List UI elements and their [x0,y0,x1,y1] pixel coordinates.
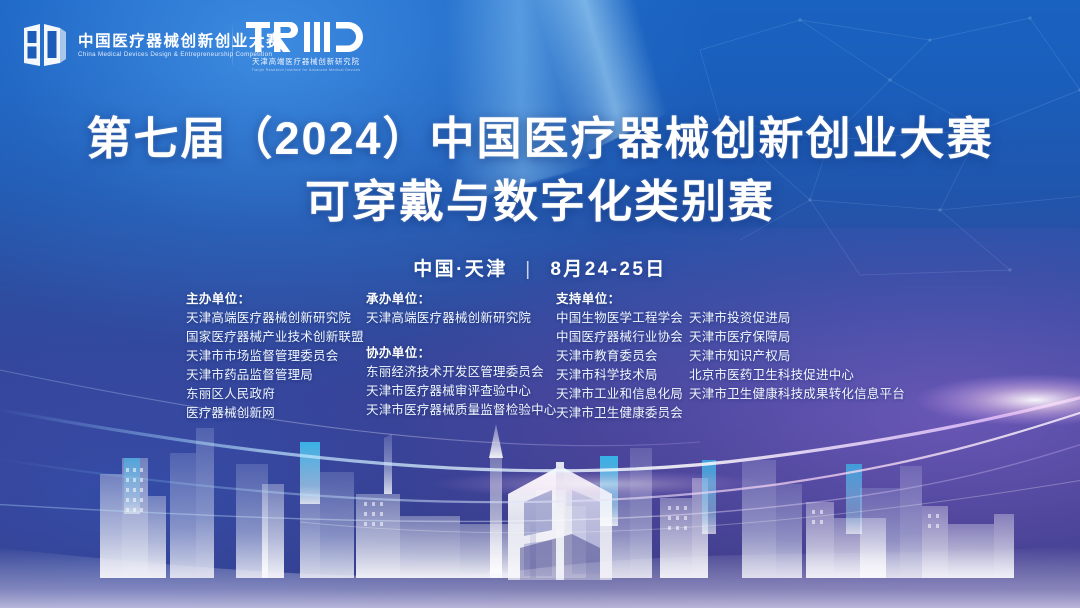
trimd-wordmark-icon [246,20,366,54]
organizer-group-title: 承办单位： [366,290,556,309]
logo-divider [232,24,233,68]
poster-header: 中国医疗器械创新创业大赛 China Medical Devices Desig… [0,0,1080,92]
event-meta: 中国·天津 | 8月24-25日 [0,254,1080,281]
organizer-group-title: 支持单位： [556,290,689,309]
organizer-group-title-spacer [689,290,919,309]
light-streaks [0,308,1080,608]
institute-logo-cn: 天津高端医疗器械创新研究院 [252,58,360,65]
main-title-line1: 第七届（2024）中国医疗器械创新创业大赛 [0,112,1080,165]
institute-logo-en: Tianjin Research Institute for Advanced … [252,69,361,73]
open-door-book-logo-icon [22,22,68,70]
organizer-group-title: 主办单位： [186,290,366,309]
poster-canvas: 中国医疗器械创新创业大赛 China Medical Devices Desig… [0,0,1080,608]
title-block: 第七届（2024）中国医疗器械创新创业大赛 可穿戴与数字化类别赛 中国·天津 |… [0,112,1080,281]
competition-logo: 中国医疗器械创新创业大赛 China Medical Devices Desig… [22,22,283,70]
event-location: 中国·天津 [413,259,507,280]
event-date: 8月24-25日 [550,259,666,280]
meta-separator: | [525,259,532,281]
institute-logo: 天津高端医疗器械创新研究院 Tianjin Research Institute… [246,20,366,73]
main-title-line2: 可穿戴与数字化类别赛 [0,175,1080,228]
